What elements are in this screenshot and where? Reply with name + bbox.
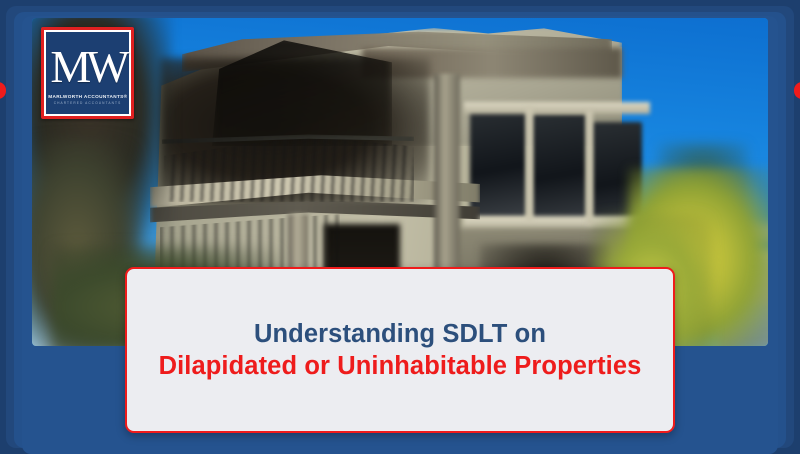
logo-company-name: MARLWORTH ACCOUNTANTS® xyxy=(48,94,127,99)
logo-tagline: CHARTERED ACCOUNTANTS xyxy=(54,101,122,105)
title-line-1: Understanding SDLT on xyxy=(254,319,546,349)
title-card: Understanding SDLT on Dilapidated or Uni… xyxy=(125,267,675,433)
logo-inner-plate: MW MARLWORTH ACCOUNTANTS® CHARTERED ACCO… xyxy=(44,30,131,116)
window-2 xyxy=(532,114,586,226)
window-mullion-1 xyxy=(526,106,533,222)
window-header-band xyxy=(464,102,650,114)
company-logo[interactable]: MW MARLWORTH ACCOUNTANTS® CHARTERED ACCO… xyxy=(41,27,134,119)
card-tab-right xyxy=(794,82,800,99)
slide-canvas: MW MARLWORTH ACCOUNTANTS® CHARTERED ACCO… xyxy=(0,0,800,454)
title-line-2: Dilapidated or Uninhabitable Properties xyxy=(159,351,642,381)
logo-monogram-icon: MW xyxy=(50,45,124,89)
window-mullion-2 xyxy=(586,110,593,228)
